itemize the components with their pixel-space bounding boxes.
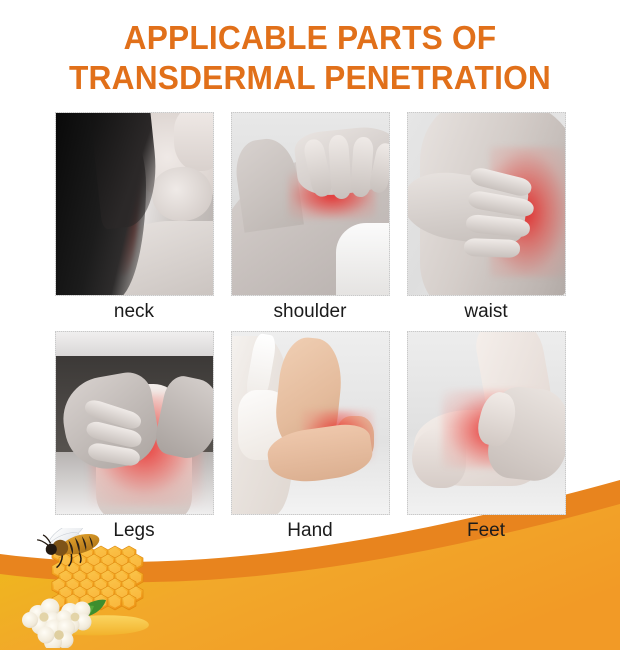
caption-hand: Hand	[287, 516, 332, 546]
grid-cell-hand[interactable]: Hand	[229, 331, 392, 546]
waist-photo	[407, 112, 566, 296]
page-title: APPLICABLE PARTS OF TRANSDERMAL PENETRAT…	[0, 18, 620, 98]
grid-cell-feet[interactable]: Feet	[405, 331, 568, 546]
grid-cell-neck[interactable]: neck	[53, 112, 216, 327]
caption-waist: waist	[464, 297, 507, 327]
grid-cell-shoulder[interactable]: shoulder	[229, 112, 392, 327]
page-title-line-1: APPLICABLE PARTS OF	[12, 18, 607, 58]
caption-shoulder: shoulder	[274, 297, 347, 327]
legs-photo	[55, 331, 214, 515]
hand-photo	[231, 331, 390, 515]
caption-neck: neck	[114, 297, 154, 327]
shoulder-photo	[231, 112, 390, 296]
grid-cell-legs[interactable]: Legs	[53, 331, 216, 546]
caption-feet: Feet	[467, 516, 505, 546]
neck-photo	[55, 112, 214, 296]
body-parts-grid: neck shoulder	[0, 112, 620, 550]
shoulder-finger-3	[349, 136, 373, 197]
grid-row-1: neck shoulder	[0, 112, 620, 327]
feet-photo	[407, 331, 566, 515]
shoulder-arm-shape	[336, 223, 390, 296]
grid-cell-waist[interactable]: waist	[405, 112, 568, 327]
waist-finger-4	[463, 238, 520, 258]
caption-legs: Legs	[113, 516, 154, 546]
grid-row-2: Legs Hand	[0, 331, 620, 546]
page-title-line-2: TRANSDERMAL PENETRATION	[12, 58, 607, 98]
